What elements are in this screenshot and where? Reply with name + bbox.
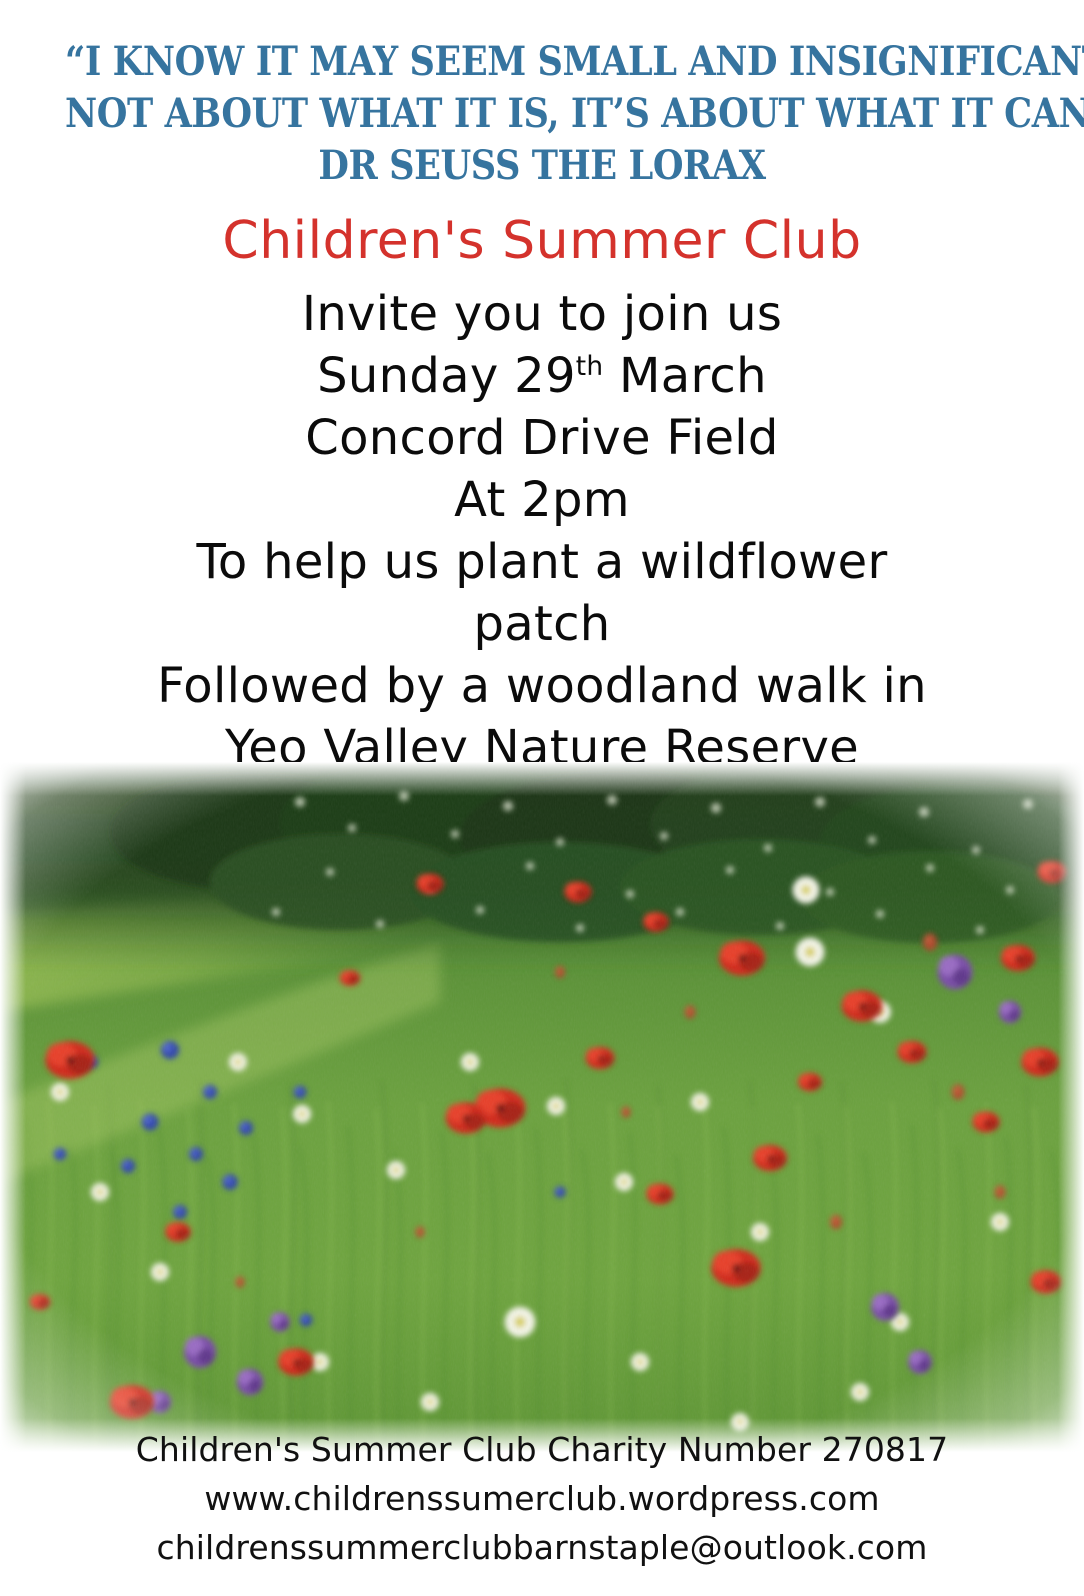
invite-date-month: March [603,348,766,404]
quote-line-1: “I KNOW IT MAY SEEM SMALL AND INSIGNIFIC… [65,36,1019,88]
quote-attribution: DR SEUSS THE LORAX [65,140,1019,192]
invite-line-location: Concord Drive Field [0,407,1084,469]
invite-line-activity-1: To help us plant a wildflower [0,531,1084,593]
wildflower-meadow-photo [0,762,1084,1452]
invite-line-date: Sunday 29th March [0,345,1084,407]
invite-date-ordinal: th [576,351,604,382]
email-line[interactable]: childrenssummerclubbarnstaple@outlook.co… [0,1523,1084,1572]
invite-line-time: At 2pm [0,469,1084,531]
footer-block: Children's Summer Club Charity Number 27… [0,1425,1084,1572]
invite-block: Invite you to join us Sunday 29th March … [0,283,1084,779]
quote-block: “I KNOW IT MAY SEEM SMALL AND INSIGNIFIC… [0,36,1084,192]
page-title: Children's Summer Club [0,210,1084,272]
invite-date-text: Sunday 29 [317,348,576,404]
meadow-illustration [0,762,1084,1452]
invite-line-walk-1: Followed by a woodland walk in [0,655,1084,717]
invite-line-activity-2: patch [0,593,1084,655]
website-line[interactable]: www.childrenssumerclub.wordpress.com [0,1474,1084,1523]
charity-number-line: Children's Summer Club Charity Number 27… [0,1425,1084,1474]
poster-canvas: “I KNOW IT MAY SEEM SMALL AND INSIGNIFIC… [0,0,1084,1596]
invite-line-join: Invite you to join us [0,283,1084,345]
quote-line-2: NOT ABOUT WHAT IT IS, IT’S ABOUT WHAT IT… [65,88,1019,140]
photo-vignette [0,762,1084,1452]
